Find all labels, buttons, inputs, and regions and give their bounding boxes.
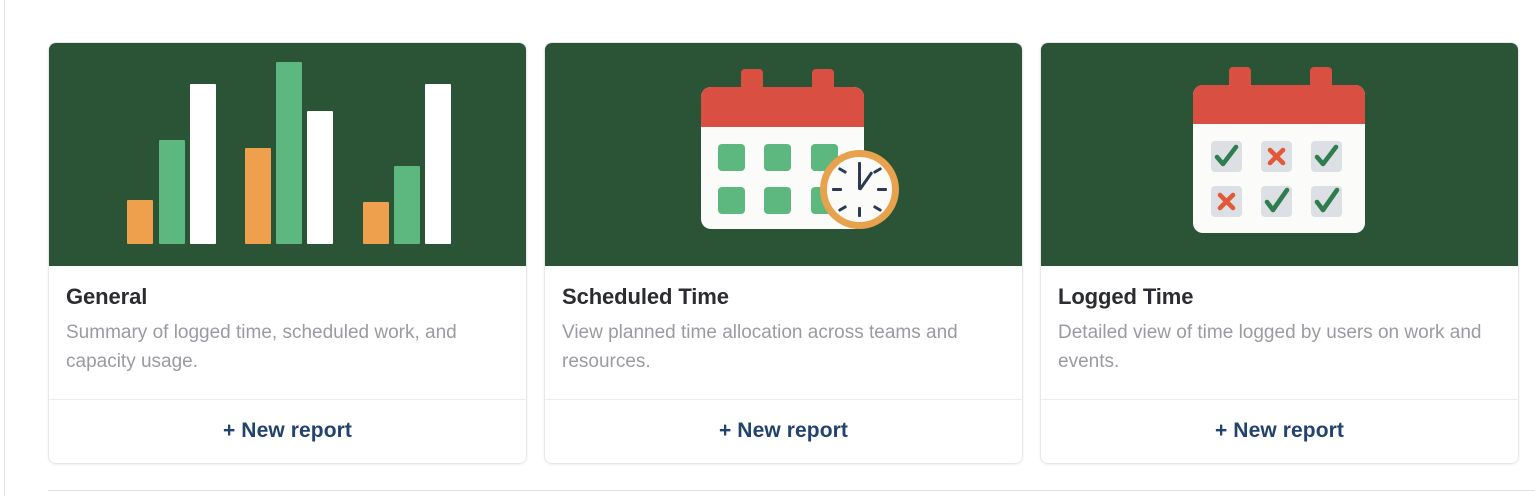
clock-icon [820, 150, 899, 229]
card-description: Summary of logged time, scheduled work, … [66, 319, 509, 377]
card-title: Logged Time [1058, 284, 1501, 310]
calendar-cell-r2c2 [764, 187, 791, 214]
card-body-general: General Summary of logged time, schedule… [49, 266, 526, 400]
clock-tick-3 [877, 188, 887, 191]
card-footer-general[interactable]: + New report [49, 400, 526, 463]
calendar-ring-left [741, 69, 763, 89]
new-report-button[interactable]: + New report [1215, 419, 1344, 443]
check-icon [1311, 186, 1342, 217]
calendar-cell-r1c1 [718, 144, 745, 171]
cross-icon [1261, 141, 1292, 172]
bar-white-2 [307, 111, 333, 244]
bar-orange-2 [245, 148, 271, 244]
calendar-cell-r2c3 [1311, 186, 1342, 217]
card-body-scheduled-time: Scheduled Time View planned time allocat… [545, 266, 1022, 400]
calendar-cell-r2c2 [1261, 186, 1292, 217]
bar-green-1 [159, 140, 185, 244]
clock-tick-7 [838, 205, 847, 212]
report-template-card-scheduled-time[interactable]: Scheduled Time View planned time allocat… [544, 42, 1023, 464]
bar-white-3 [425, 84, 451, 244]
card-footer-logged-time[interactable]: + New report [1041, 400, 1518, 463]
clock-tick-6 [858, 207, 861, 217]
calendar-cell-r2c1 [1211, 186, 1242, 217]
check-icon [1211, 141, 1242, 172]
calendar-ring-right [812, 69, 834, 89]
calendar-ring-right [1310, 67, 1332, 87]
calendar-cell-r1c2 [1261, 141, 1292, 172]
calendar-cell-r1c3 [1311, 141, 1342, 172]
new-report-button[interactable]: + New report [719, 419, 848, 443]
clock-tick-5 [873, 205, 882, 212]
report-template-card-list: General Summary of logged time, schedule… [48, 42, 1519, 464]
cross-icon [1211, 186, 1242, 217]
card-illustration-scheduled-time [545, 43, 1022, 266]
card-title: General [66, 284, 509, 310]
calendar-body [1193, 85, 1365, 233]
bar-chart-icon [49, 43, 526, 266]
card-description: View planned time allocation across team… [562, 319, 1005, 377]
check-icon [1261, 186, 1292, 217]
page-left-divider [4, 0, 5, 496]
check-icon [1311, 141, 1342, 172]
clock-tick-11 [838, 167, 847, 174]
bar-orange-3 [363, 202, 389, 244]
card-illustration-logged-time [1041, 43, 1518, 266]
card-body-logged-time: Logged Time Detailed view of time logged… [1041, 266, 1518, 400]
calendar-cell-r1c2 [764, 144, 791, 171]
calendar-ring-left [1229, 67, 1251, 87]
card-title: Scheduled Time [562, 284, 1005, 310]
calendar-clock-icon [545, 43, 1022, 266]
page-bottom-divider [48, 490, 1535, 491]
report-template-card-logged-time[interactable]: Logged Time Detailed view of time logged… [1040, 42, 1519, 464]
calendar-header-band [1193, 85, 1365, 124]
calendar-check-icon [1041, 43, 1518, 266]
report-template-card-general[interactable]: General Summary of logged time, schedule… [48, 42, 527, 464]
calendar-cell-r2c1 [718, 187, 745, 214]
bar-green-3 [394, 166, 420, 244]
reports-gallery-page: General Summary of logged time, schedule… [0, 0, 1535, 496]
calendar-header-band [701, 87, 864, 127]
bar-orange-1 [127, 200, 153, 244]
clock-tick-9 [832, 188, 842, 191]
clock-tick-1 [873, 167, 882, 174]
card-description: Detailed view of time logged by users on… [1058, 319, 1501, 377]
card-illustration-general [49, 43, 526, 266]
new-report-button[interactable]: + New report [223, 419, 352, 443]
card-footer-scheduled-time[interactable]: + New report [545, 400, 1022, 463]
bar-green-2 [276, 62, 302, 244]
bar-white-1 [190, 84, 216, 244]
calendar-cell-r1c1 [1211, 141, 1242, 172]
